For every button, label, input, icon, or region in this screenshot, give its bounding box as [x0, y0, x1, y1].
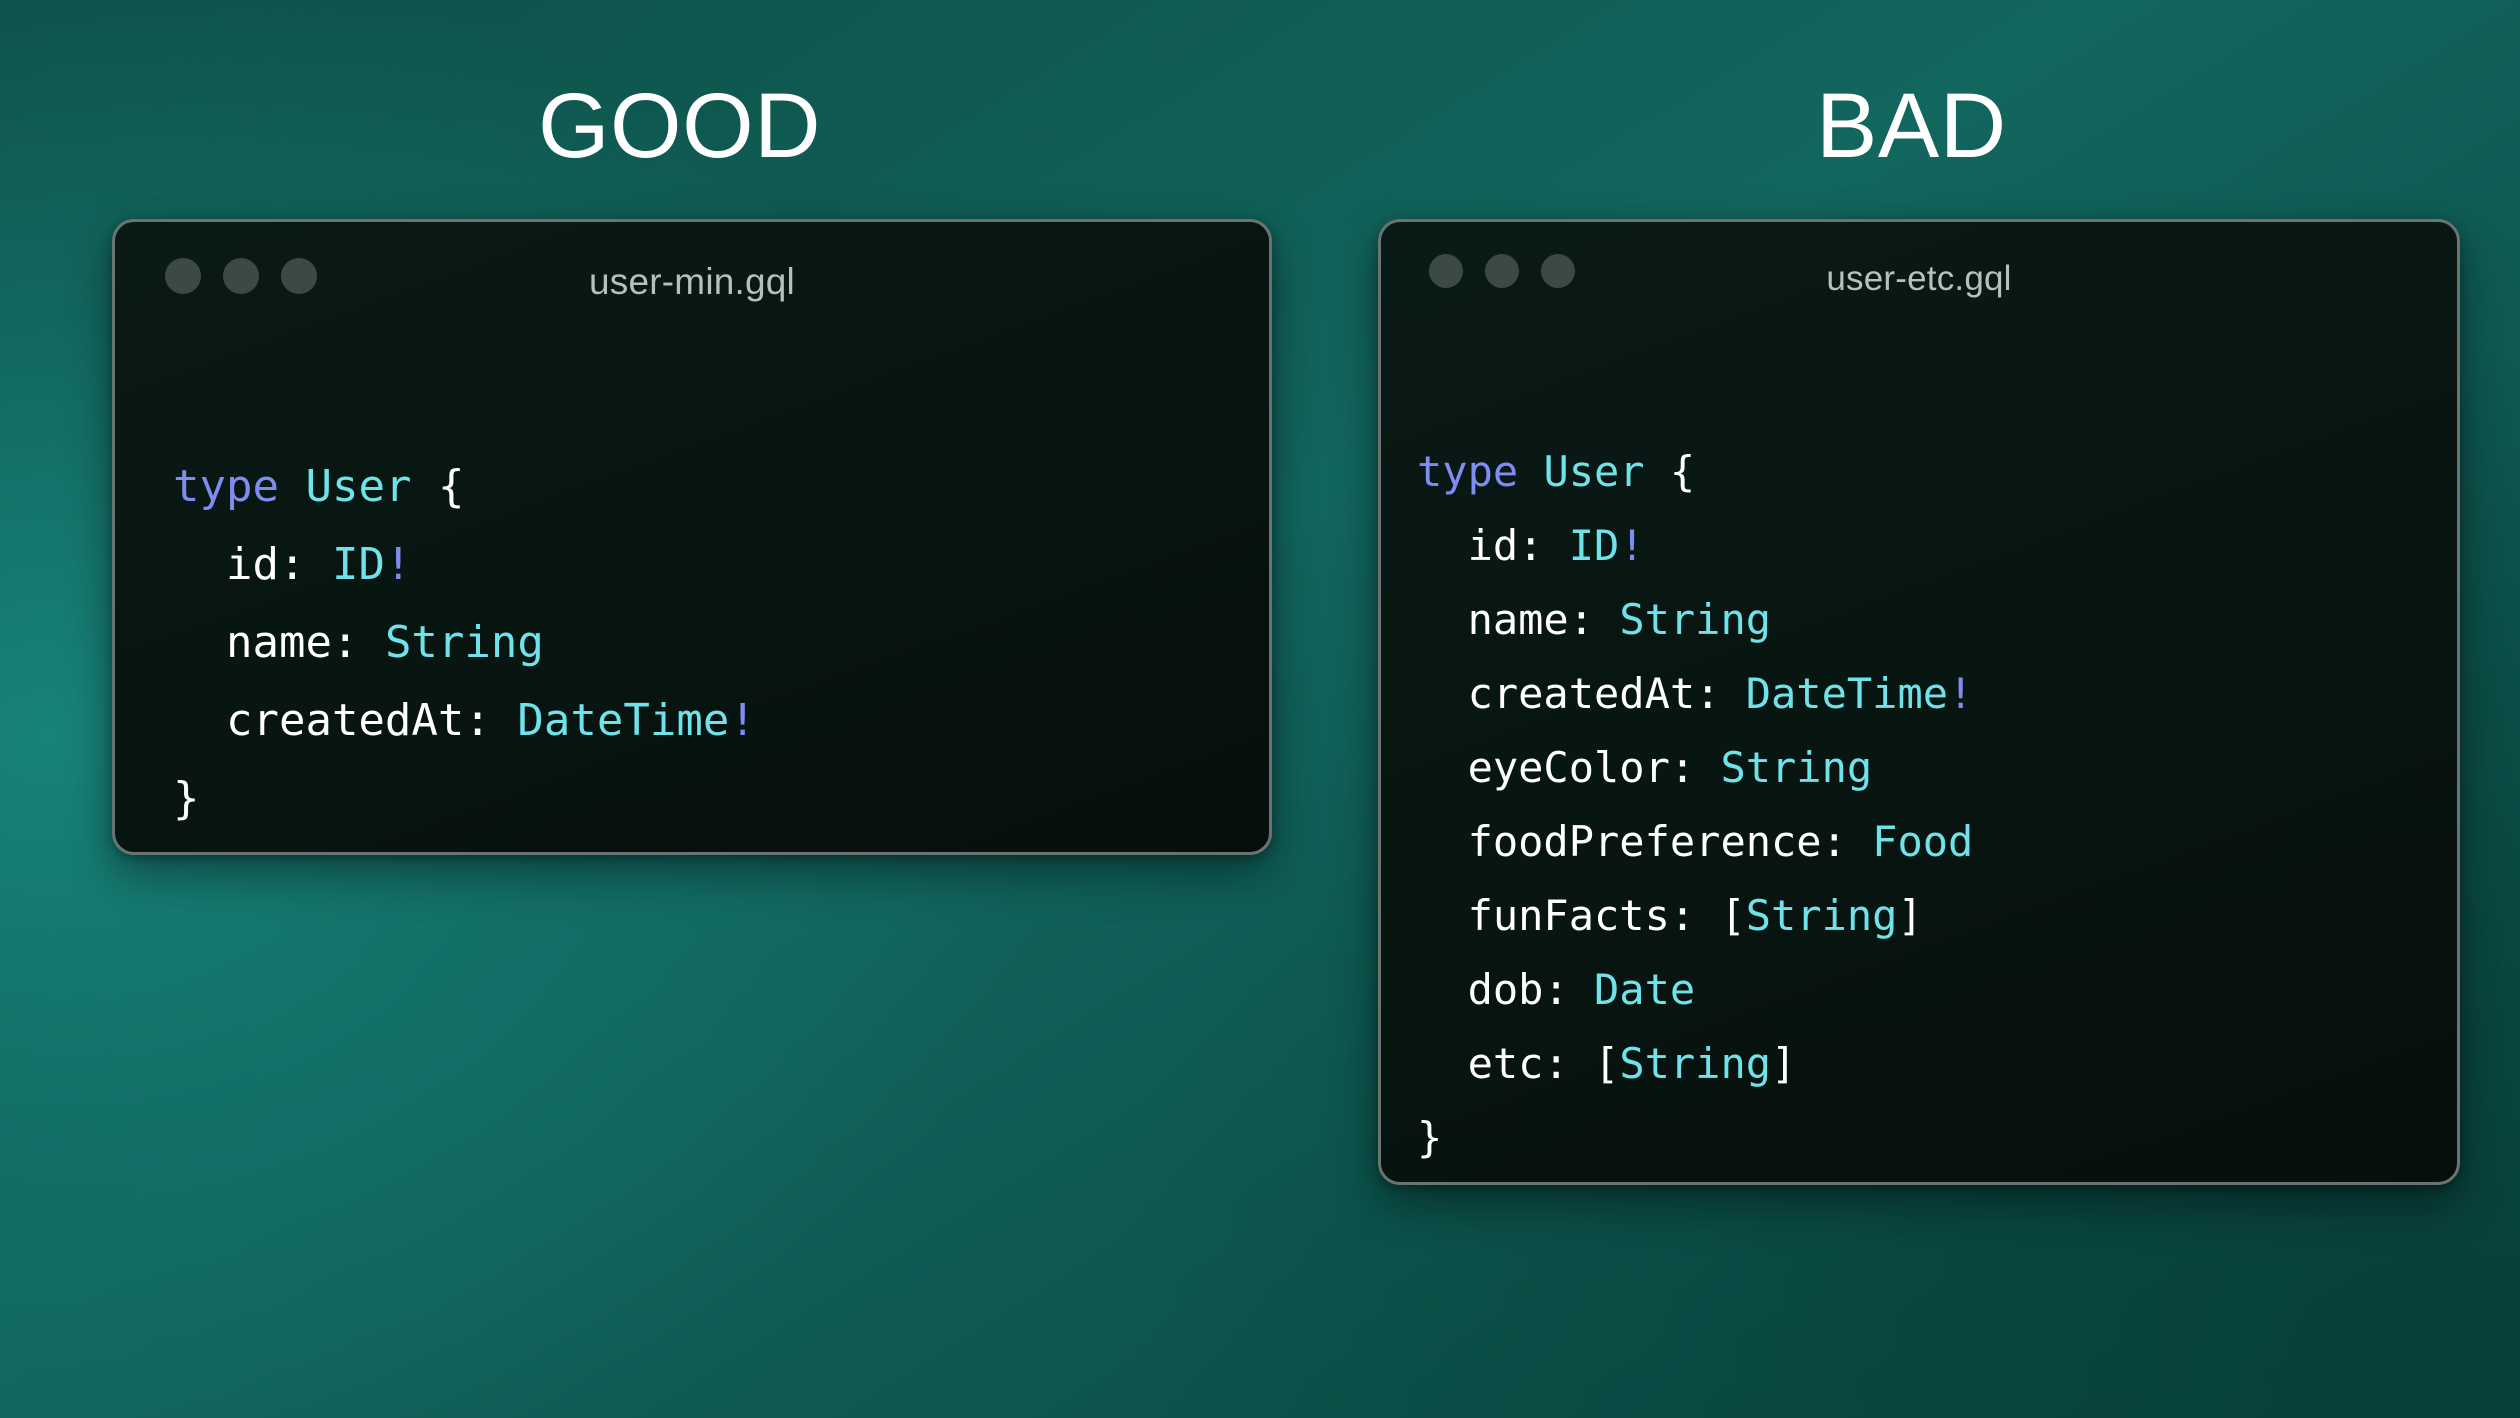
- code-token-plain: [411, 461, 438, 512]
- code-token-punctuation: :: [464, 695, 517, 746]
- code-token-punctuation: {: [1670, 447, 1695, 496]
- code-token-bang: !: [1948, 669, 1973, 718]
- code-token-field: dob: [1468, 965, 1544, 1014]
- code-token-punctuation: :: [1569, 595, 1620, 644]
- code-token-punctuation: ]: [1771, 1039, 1796, 1088]
- window-filename-bad: user-etc.gql: [1381, 259, 2457, 299]
- code-token-punctuation: ]: [1897, 891, 1922, 940]
- code-line: etc: [String]: [1417, 1027, 1973, 1101]
- code-token-plain: [1518, 447, 1543, 496]
- code-token-field: createdAt: [1468, 669, 1696, 718]
- code-token-punctuation: }: [1417, 1113, 1442, 1162]
- code-token-type: Food: [1872, 817, 1973, 866]
- code-token-punctuation: :: [1543, 965, 1594, 1014]
- code-token-plain: [1645, 447, 1670, 496]
- code-line: name: String: [173, 604, 756, 682]
- code-token-punctuation: :: [1518, 521, 1569, 570]
- code-line: foodPreference: Food: [1417, 805, 1973, 879]
- code-token-type: DateTime: [517, 695, 729, 746]
- code-token-type: String: [1619, 595, 1771, 644]
- code-token-punctuation: [: [1594, 1039, 1619, 1088]
- code-token-punctuation: {: [438, 461, 465, 512]
- code-line: eyeColor: String: [1417, 731, 1973, 805]
- code-token-plain: [279, 461, 306, 512]
- code-token-punctuation: :: [1822, 817, 1873, 866]
- code-line: type User {: [1417, 435, 1973, 509]
- code-window-bad: user-etc.gql type User { id: ID! name: S…: [1378, 219, 2460, 1185]
- code-token-type: String: [385, 617, 544, 668]
- code-line: type User {: [173, 448, 756, 526]
- code-token-type: String: [1619, 1039, 1771, 1088]
- code-token-type: ID: [332, 539, 385, 590]
- code-token-field: funFacts: [1468, 891, 1670, 940]
- code-block-good: type User { id: ID! name: String created…: [173, 448, 756, 838]
- code-token-type: ID: [1569, 521, 1620, 570]
- code-token-punctuation: :: [279, 539, 332, 590]
- code-token-punctuation: :: [332, 617, 385, 668]
- code-token-bang: !: [385, 539, 412, 590]
- window-titlebar-good: user-min.gql: [115, 222, 1269, 334]
- code-line: name: String: [1417, 583, 1973, 657]
- code-token-field: eyeColor: [1468, 743, 1670, 792]
- code-block-bad: type User { id: ID! name: String created…: [1417, 435, 1973, 1175]
- code-token-type: User: [1543, 447, 1644, 496]
- code-line: createdAt: DateTime!: [1417, 657, 1973, 731]
- code-token-type: Date: [1594, 965, 1695, 1014]
- code-token-bang: !: [1619, 521, 1644, 570]
- code-token-field: name: [1468, 595, 1569, 644]
- column-heading-bad: BAD: [1816, 80, 2007, 172]
- code-window-good: user-min.gql type User { id: ID! name: S…: [112, 219, 1272, 855]
- code-token-bang: !: [729, 695, 756, 746]
- code-line: createdAt: DateTime!: [173, 682, 756, 760]
- code-token-punctuation: :: [1695, 669, 1746, 718]
- code-token-field: id: [1468, 521, 1519, 570]
- code-line: }: [1417, 1101, 1973, 1175]
- code-line: funFacts: [String]: [1417, 879, 1973, 953]
- code-line: id: ID!: [173, 526, 756, 604]
- code-line: }: [173, 760, 756, 838]
- code-token-punctuation: :: [1543, 1039, 1594, 1088]
- code-token-punctuation: :: [1670, 743, 1721, 792]
- code-token-type: String: [1720, 743, 1872, 792]
- code-token-field: etc: [1468, 1039, 1544, 1088]
- code-token-type: User: [305, 461, 411, 512]
- code-token-field: foodPreference: [1468, 817, 1822, 866]
- code-token-keyword: type: [173, 461, 279, 512]
- code-line: id: ID!: [1417, 509, 1973, 583]
- code-token-type: String: [1746, 891, 1898, 940]
- code-token-punctuation: :: [1670, 891, 1721, 940]
- window-filename-good: user-min.gql: [115, 261, 1269, 303]
- code-token-keyword: type: [1417, 447, 1518, 496]
- code-token-type: DateTime: [1746, 669, 1948, 718]
- code-token-punctuation: }: [173, 773, 200, 824]
- slide-canvas: GOOD BAD user-min.gql type User { id: ID…: [0, 0, 2520, 1418]
- code-token-field: id: [226, 539, 279, 590]
- code-token-field: createdAt: [226, 695, 464, 746]
- code-token-field: name: [226, 617, 332, 668]
- column-heading-good: GOOD: [538, 80, 821, 172]
- code-line: dob: Date: [1417, 953, 1973, 1027]
- code-token-punctuation: [: [1720, 891, 1745, 940]
- window-titlebar-bad: user-etc.gql: [1381, 222, 2457, 334]
